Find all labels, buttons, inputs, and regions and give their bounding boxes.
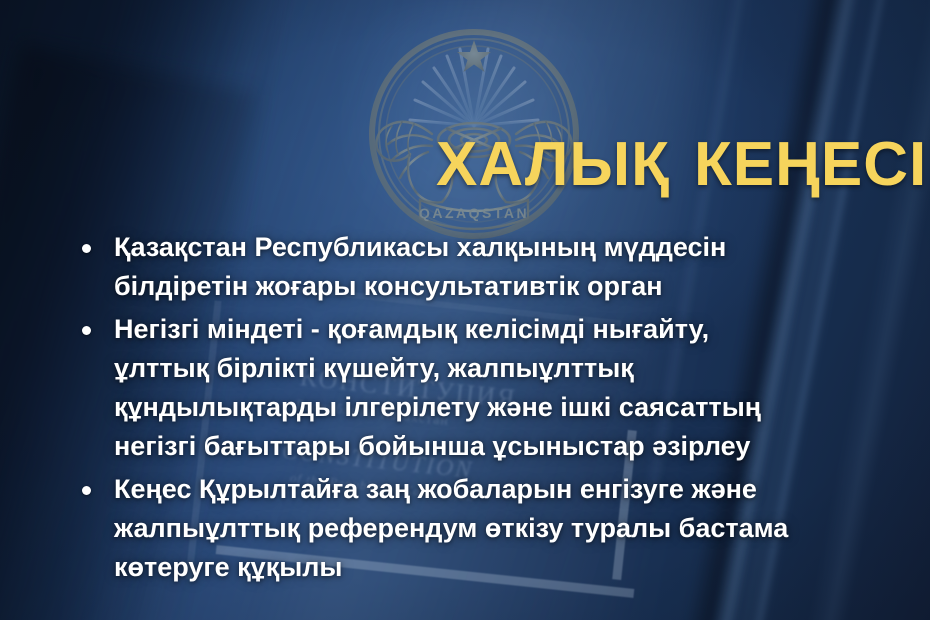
bullet-list: Қазақстан Республикасы халқының мүддесін… — [66, 228, 806, 591]
slide-canvas: КОНСТИТУЦИЯ Республики Казахстан CONSTIT… — [0, 0, 930, 620]
bullet-dot-icon — [82, 486, 91, 495]
page-title: ХАЛЫҚКЕҢЕСІ — [436, 134, 927, 196]
page-title-word-2: КЕҢЕСІ — [694, 130, 927, 199]
page-title-word-1: ХАЛЫҚ — [436, 130, 670, 199]
bullet-dot-icon — [82, 326, 91, 335]
list-item: Қазақстан Республикасы халқының мүддесін… — [66, 228, 806, 306]
bullet-text: Қазақстан Республикасы халқының мүддесін… — [114, 228, 806, 306]
bullet-text: Негізгі міндеті - қоғамдық келісімді нығ… — [114, 310, 806, 466]
bullet-text: Кеңес Құрылтайға заң жобаларын енгізуге … — [114, 470, 806, 587]
list-item: Негізгі міндеті - қоғамдық келісімді нығ… — [66, 310, 806, 466]
list-item: Кеңес Құрылтайға заң жобаларын енгізуге … — [66, 470, 806, 587]
bullet-dot-icon — [82, 244, 91, 253]
